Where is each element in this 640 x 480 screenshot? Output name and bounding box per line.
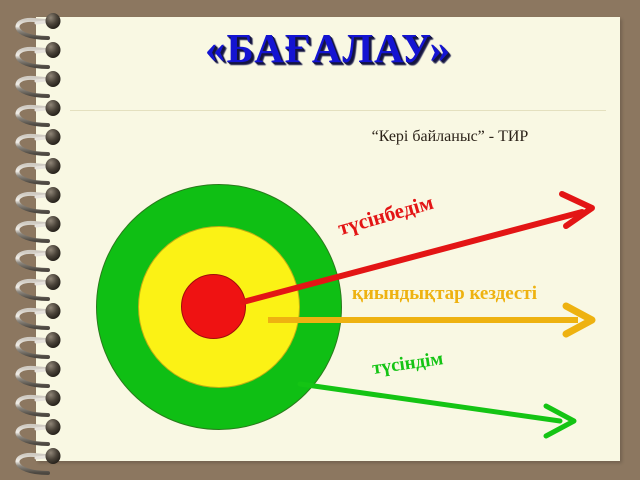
target-inner-ring: [181, 274, 246, 339]
callout-label-orange: қиындықтар кездесті: [352, 283, 537, 305]
page-title: «БАҒАЛАУ»: [36, 24, 620, 72]
slide-canvas: «БАҒАЛАУ» “Кері байланыс” - ТИР түсінбед…: [0, 0, 640, 480]
title-divider: [70, 110, 606, 111]
subtitle-text: “Кері байланыс” - ТИР: [300, 128, 600, 146]
